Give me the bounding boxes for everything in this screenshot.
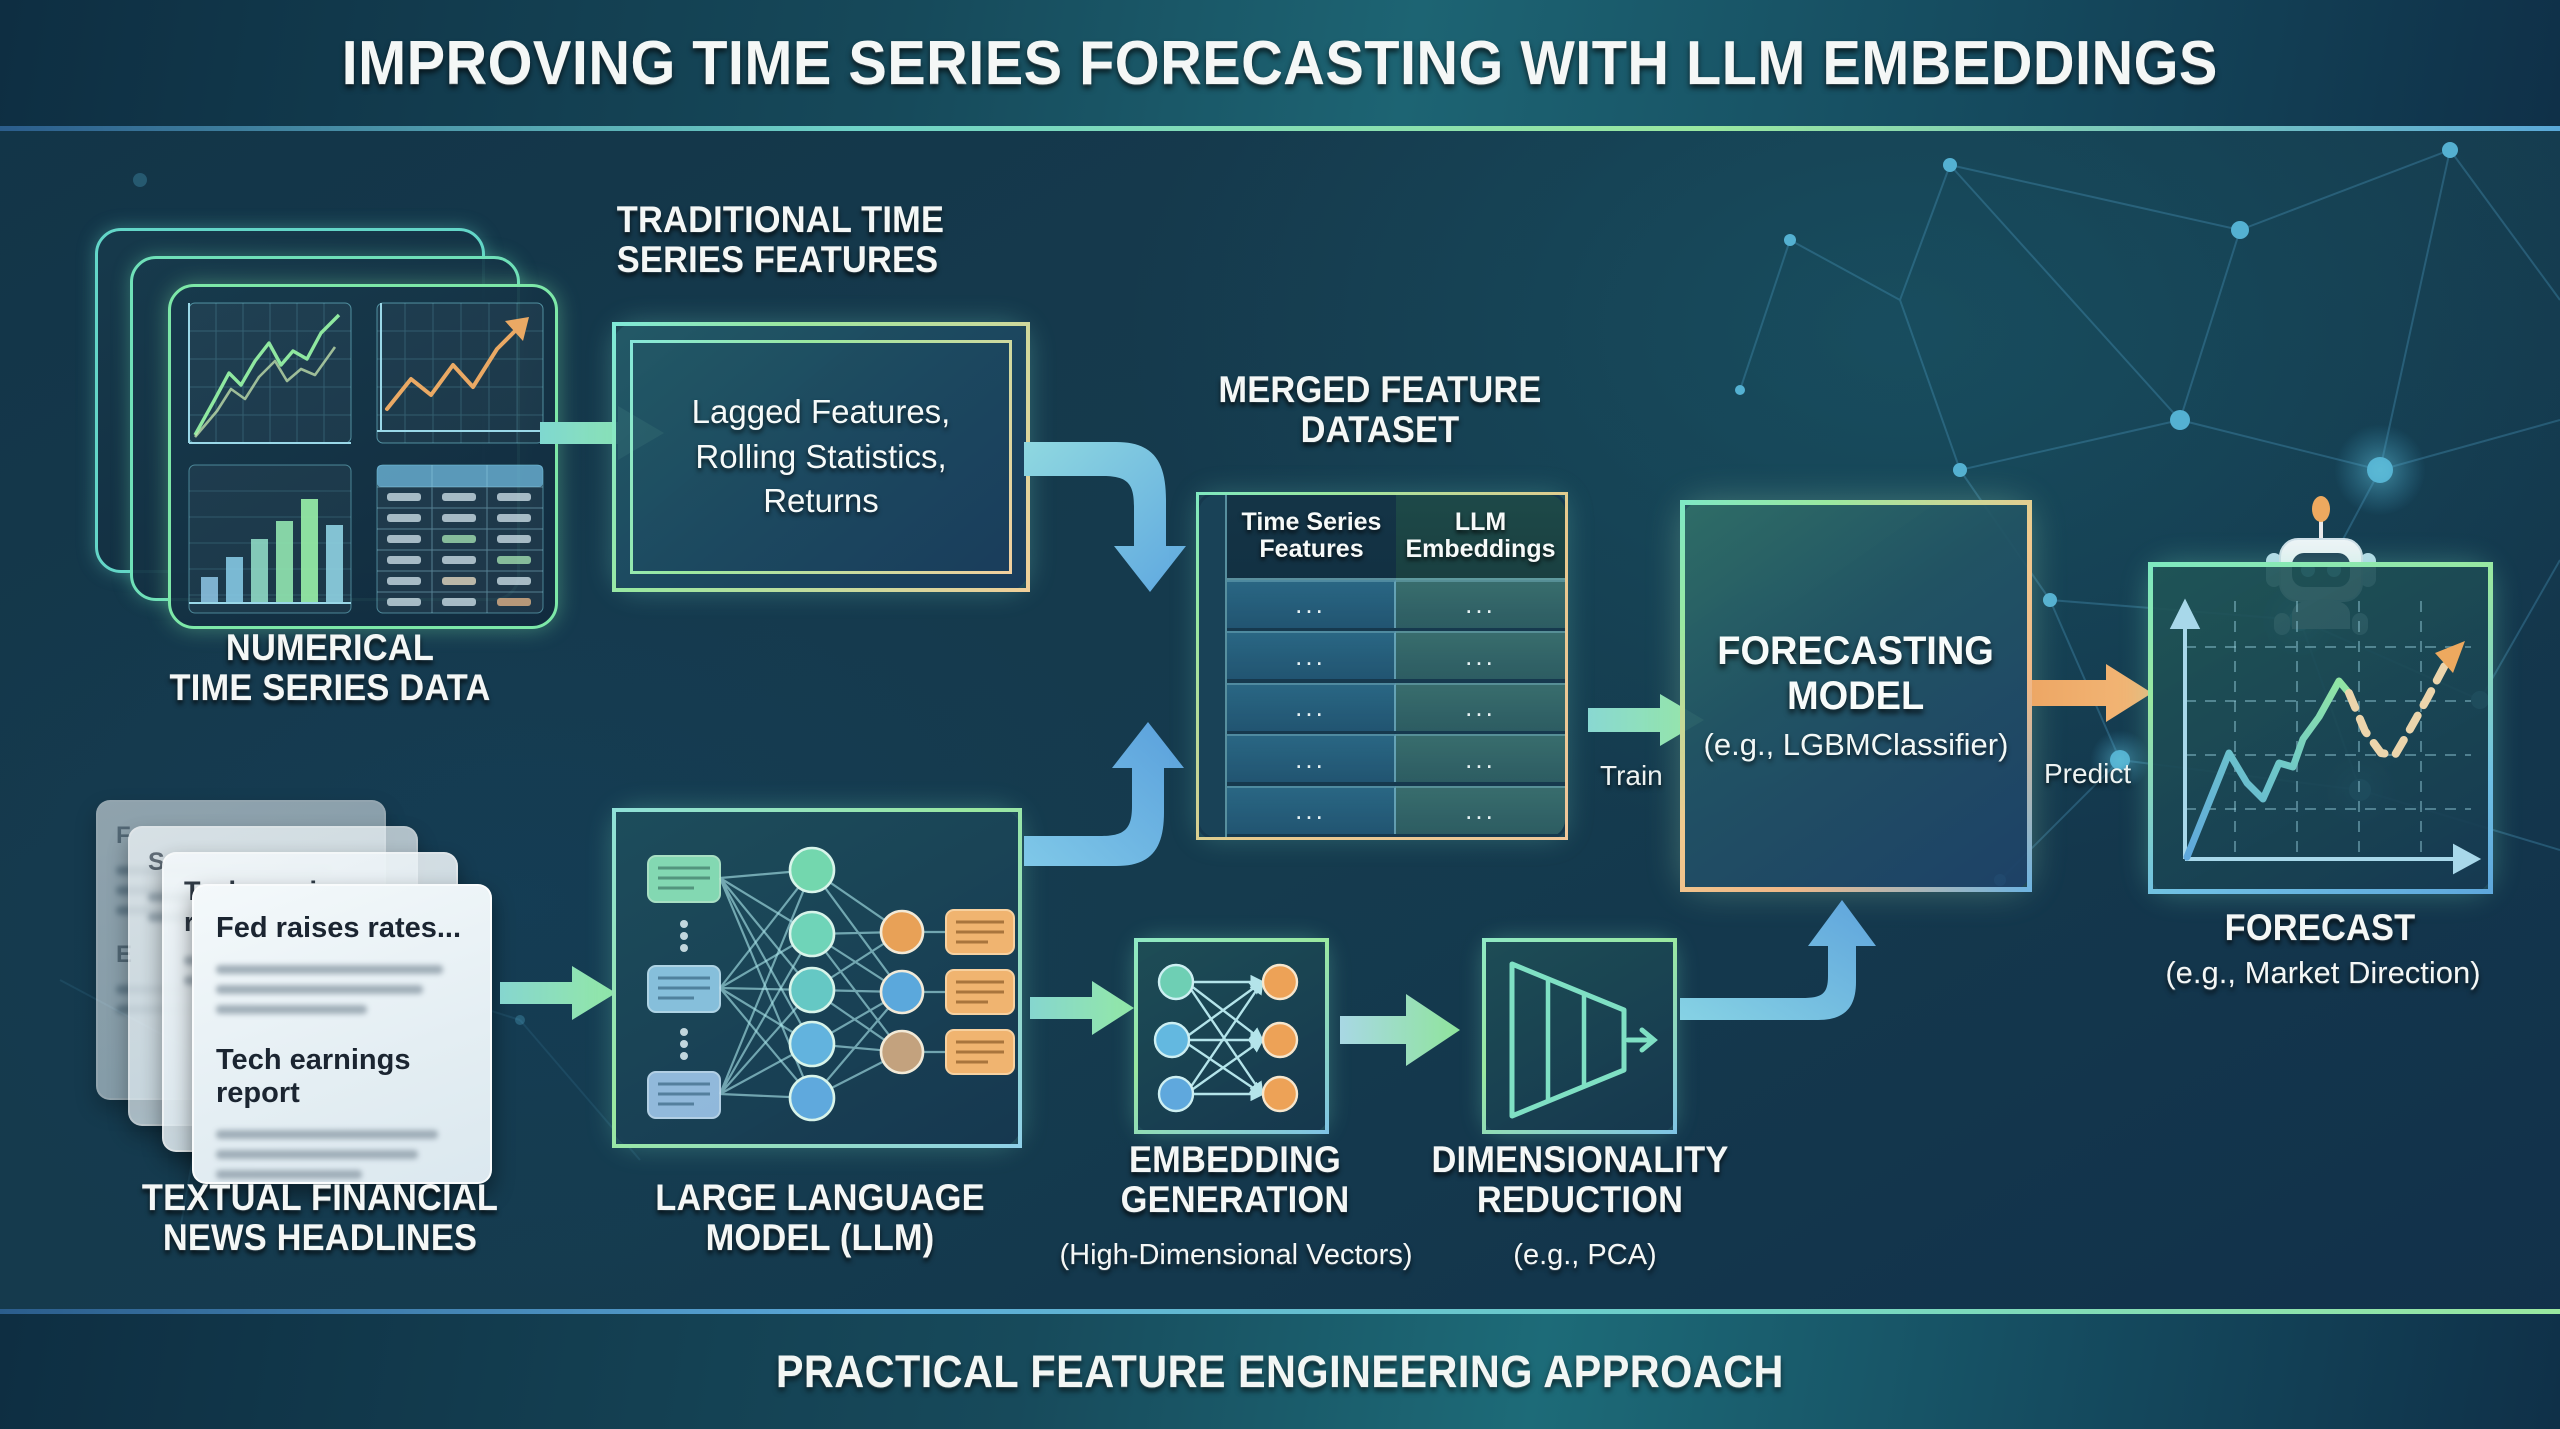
table-gutter (1199, 495, 1227, 837)
llm-label: LARGE LANGUAGE MODEL (LLM) (588, 1178, 1053, 1258)
forecast-sublabel: (e.g., Market Direction) (2098, 956, 2548, 989)
news-headline-2: Tech earnings report (216, 1044, 468, 1110)
dimensionality-reduction-label: DIMENSIONALITY REDUCTION (1413, 1140, 1748, 1220)
forecast-line-chart (2153, 567, 2498, 899)
arrow-llm-to-embedding (1030, 975, 1138, 1045)
arrow-predict (2032, 660, 2156, 730)
trend-arrow-icon (377, 303, 543, 443)
features-line-1: Lagged Features, (692, 390, 951, 435)
table-cell: ... (1227, 580, 1396, 628)
numerical-data-label: NUMERICAL TIME SERIES DATA (98, 628, 563, 708)
infographic-canvas: IMPROVING TIME SERIES FORECASTING WITH L… (0, 0, 2560, 1429)
embedding-generation-sublabel: (High-Dimensional Vectors) (1016, 1240, 1456, 1271)
mini-data-table (377, 465, 543, 613)
table-cell: ... (1227, 683, 1396, 731)
table-cell: ... (1227, 786, 1396, 834)
train-label: Train (1600, 760, 1663, 792)
embedding-generation-label: EMBEDDING GENERATION (1100, 1140, 1370, 1220)
arrow-pca-to-model (1680, 900, 1910, 1060)
page-title: IMPROVING TIME SERIES FORECASTING WITH L… (342, 28, 2218, 99)
dimensionality-reduction-box (1482, 938, 1677, 1134)
table-cell: ... (1227, 734, 1396, 782)
table-cell: ... (1396, 580, 1565, 628)
features-line-3: Returns (763, 479, 879, 524)
arrow-embedding-to-pca (1340, 990, 1466, 1074)
title-banner: IMPROVING TIME SERIES FORECASTING WITH L… (0, 0, 2560, 131)
dimensionality-reduction-sublabel: (e.g., PCA) (1440, 1240, 1730, 1271)
news-headlines-label: TEXTUAL FINANCIAL NEWS HEADLINES (78, 1178, 562, 1258)
llm-box (612, 808, 1022, 1148)
forecasting-model-title-1: FORECASTING (1718, 629, 1995, 674)
predict-label: Predict (2044, 758, 2131, 790)
table-cell: ... (1396, 631, 1565, 679)
table-header-time-series: Time Series Features (1227, 495, 1396, 580)
table-cell: ... (1396, 683, 1565, 731)
footer-banner: PRACTICAL FEATURE ENGINEERING APPROACH (0, 1309, 2560, 1429)
news-headline-1: Fed raises rates... (216, 912, 468, 945)
neural-network-diagram (616, 812, 1026, 1152)
footer-text: PRACTICAL FEATURE ENGINEERING APPROACH (776, 1346, 1784, 1398)
forecasting-model-subtitle: (e.g., LGBMClassifier) (1704, 727, 2009, 763)
traditional-features-heading: TRADITIONAL TIME SERIES FEATURES (617, 200, 1063, 280)
merged-dataset-heading: MERGED FEATURE DATASET (1166, 370, 1594, 450)
forecast-label: FORECAST (2153, 908, 2488, 948)
bipartite-network-icon (1138, 942, 1333, 1138)
table-cell: ... (1227, 631, 1396, 679)
table-header-llm-embeddings: LLM Embeddings (1396, 495, 1565, 580)
forecasting-model-title-2: MODEL (1718, 674, 1995, 719)
merged-feature-table: Time Series Features LLM Embeddings ... … (1196, 492, 1568, 840)
forecast-chart-box (2148, 562, 2493, 894)
llm-input-token-boxes (648, 856, 720, 1118)
embedding-generation-box (1134, 938, 1329, 1134)
traditional-features-box: Lagged Features, Rolling Statistics, Ret… (612, 322, 1030, 592)
news-card-front: Fed raises rates... Tech earnings report (192, 884, 492, 1184)
arrow-news-to-llm (500, 960, 620, 1030)
dashboard-card (168, 284, 558, 629)
funnel-compress-icon (1486, 942, 1681, 1138)
features-line-2: Rolling Statistics, (695, 435, 946, 480)
llm-output-embedding-boxes (946, 910, 1014, 1074)
table-cell: ... (1396, 734, 1565, 782)
forecasting-model-box: FORECASTING MODEL (e.g., LGBMClassifier) (1680, 500, 2032, 892)
table-cell: ... (1396, 786, 1565, 834)
